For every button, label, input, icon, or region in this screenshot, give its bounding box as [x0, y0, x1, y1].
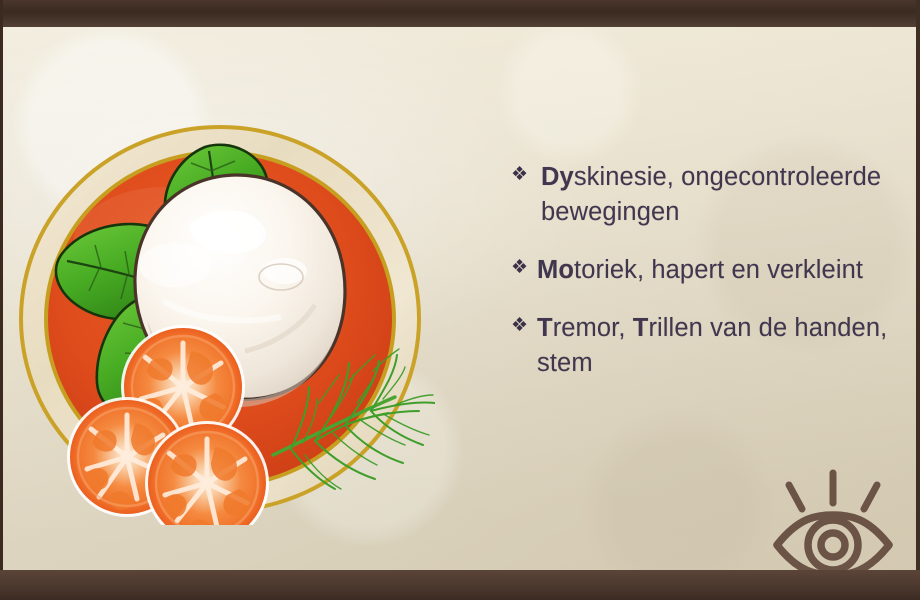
bullet-bold-prefix-2: T	[633, 314, 649, 342]
eye-iris	[808, 520, 858, 570]
bullet-bold-prefix: Mo	[537, 256, 574, 284]
eye-pupil	[821, 533, 845, 557]
eye-lash-left	[789, 485, 802, 509]
bullet-text-dyskinesie: Dyskinesie, ongecontroleerde bewegingen	[541, 160, 889, 230]
slide-screenshot: ❖ Dyskinesie, ongecontroleerde beweginge…	[0, 0, 920, 600]
bullet-bold-prefix: T	[537, 314, 553, 342]
bullet-item-motoriek: ❖ Motoriek, hapert en verkleint	[511, 253, 889, 288]
bullet-item-dyskinesie: ❖ Dyskinesie, ongecontroleerde beweginge…	[511, 160, 889, 230]
bullet-rest: remor,	[553, 314, 633, 342]
bullet-text-tremor: Tremor, Trillen van de handen, stem	[537, 311, 889, 381]
projector-frame-right	[916, 0, 920, 600]
bullet-rest: skinesie, ongecontroleerde bewegingen	[541, 163, 881, 226]
bullet-text-motoriek: Motoriek, hapert en verkleint	[537, 253, 889, 288]
projector-frame-bottom	[0, 570, 920, 600]
diamond-bullet-icon: ❖	[511, 165, 541, 184]
bullet-list: ❖ Dyskinesie, ongecontroleerde beweginge…	[511, 160, 889, 381]
eye-lash-right	[864, 485, 877, 509]
bullet-bold-prefix: Dy	[541, 163, 574, 191]
bullet-rest: toriek, hapert en verkleint	[574, 256, 863, 284]
diamond-bullet-icon: ❖	[511, 258, 537, 277]
presentation-slide: ❖ Dyskinesie, ongecontroleerde beweginge…	[3, 27, 916, 570]
diamond-bullet-icon: ❖	[511, 316, 537, 335]
projector-frame-top	[0, 0, 920, 27]
bullet-item-tremor: ❖ Tremor, Trillen van de handen, stem	[511, 311, 889, 381]
caprese-plate-illustration	[15, 105, 435, 525]
eye-icon	[769, 459, 897, 570]
